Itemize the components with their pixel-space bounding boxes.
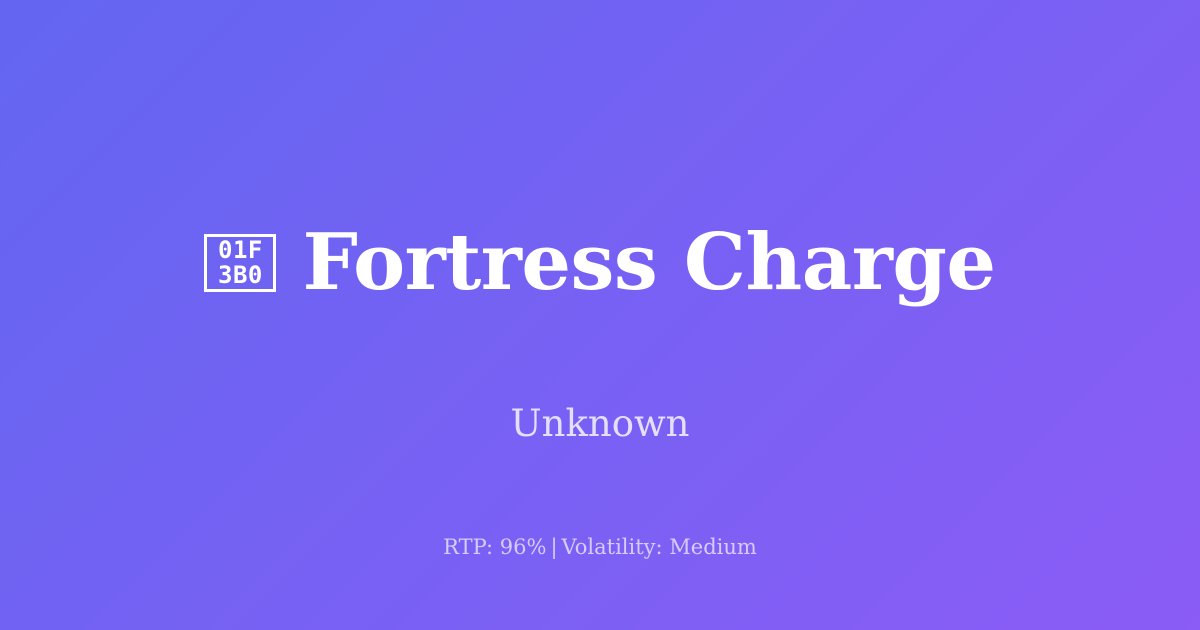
rtp-value: RTP: 96%	[443, 535, 546, 559]
page-title: Fortress Charge	[302, 222, 995, 303]
slot-machine-icon-codepoint-high: 01F	[218, 238, 263, 263]
og-share-card: 01F 3B0 Fortress Charge Unknown RTP: 96%…	[0, 0, 1200, 630]
volatility-value: Volatility: Medium	[562, 535, 757, 559]
game-meta-line: RTP: 96%|Volatility: Medium	[0, 535, 1200, 560]
meta-separator: |	[546, 535, 561, 559]
slot-machine-icon-codepoint-low: 3B0	[218, 263, 263, 288]
title-row: 01F 3B0 Fortress Charge	[0, 170, 1200, 356]
subtitle: Unknown	[510, 402, 689, 446]
slot-machine-icon: 01F 3B0	[204, 234, 276, 292]
